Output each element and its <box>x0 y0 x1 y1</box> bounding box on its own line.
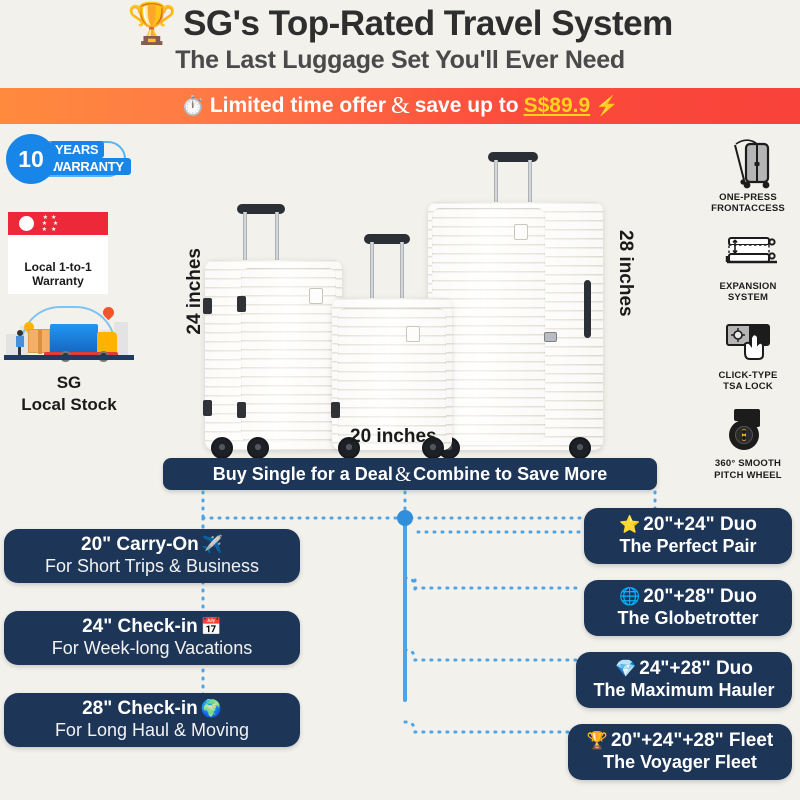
local-stock-line1: SG <box>4 372 134 394</box>
feature-label: ONE-PRESS FRONTACCESS <box>711 192 785 215</box>
combo-title-text: 20"+24"+28" Fleet <box>611 730 773 752</box>
feature-expansion-system: EXPANSION SYSTEM <box>696 223 800 304</box>
corner-guard <box>237 296 246 312</box>
combo-title: 🌐 20"+28" Duo <box>619 586 757 608</box>
promo-price: S$89.9 <box>524 94 591 118</box>
combo-title: 🏆 20"+24"+28" Fleet <box>587 730 773 752</box>
stopwatch-icon: ⏱️ <box>181 94 205 118</box>
feature-label: EXPANSION SYSTEM <box>719 281 776 304</box>
option-card-20-carry-on[interactable]: 20" Carry-On ✈️ For Short Trips & Busine… <box>4 529 300 583</box>
feature-line2: SYSTEM <box>719 292 776 303</box>
option-title-text: 28" Check-in <box>82 698 198 720</box>
connector-hub-dot <box>397 510 413 526</box>
combo-title: ⭐ 20"+24" Duo <box>619 514 757 536</box>
feature-line2: TSA LOCK <box>719 381 778 392</box>
local-warranty-line2: Warranty <box>10 275 106 289</box>
combo-title-text: 24"+28" Duo <box>639 658 753 680</box>
telescopic-handle <box>237 204 285 260</box>
option-subtitle: For Week-long Vacations <box>52 638 252 660</box>
suitcase-shell <box>205 260 342 450</box>
combo-card-maximum-hauler[interactable]: 💎 24"+28" Duo The Maximum Hauler <box>576 652 792 708</box>
promo-text-after: save up to <box>415 94 519 118</box>
brand-logo-tag <box>309 288 323 304</box>
brand-logo-tag <box>514 224 528 240</box>
local-warranty-text: Local 1-to-1 Warranty <box>8 257 108 294</box>
star-icon: ⭐ <box>619 515 640 535</box>
page-title: SG's Top-Rated Travel System <box>183 4 673 44</box>
option-title: 24" Check-in 📅 <box>82 616 222 638</box>
suitcase-shell <box>428 202 603 450</box>
dimension-label-24: 24 inches <box>184 248 206 335</box>
option-title-text: 24" Check-in <box>82 616 198 638</box>
delivery-truck-icon <box>4 300 134 366</box>
page-subtitle: The Last Luggage Set You'll Ever Need <box>175 46 625 75</box>
local-stock-text: SG Local Stock <box>4 372 134 416</box>
dimension-label-20: 20 inches <box>350 426 437 448</box>
warranty-label: WARRANTY <box>44 158 131 175</box>
front-access-suitcase-icon <box>716 134 780 192</box>
tsa-lock <box>544 332 557 342</box>
combo-title-text: 20"+24" Duo <box>643 514 757 536</box>
feature-tsa-lock: CLICK-TYPE TSA LOCK <box>696 312 800 393</box>
option-subtitle: For Long Haul & Moving <box>55 720 249 742</box>
title-row: 🏆 SG's Top-Rated Travel System <box>127 4 672 44</box>
promo-text-before: Limited time offer <box>210 94 386 118</box>
trophy-icon: 🏆 <box>127 4 177 44</box>
gem-icon: 💎 <box>615 659 636 679</box>
dimension-label-28: 28 inches <box>614 230 636 317</box>
corner-guard <box>237 402 246 418</box>
lightning-bolt-icon: ⚡ <box>595 94 619 118</box>
page-header: 🏆 SG's Top-Rated Travel System The Last … <box>0 0 800 88</box>
warranty-badge: 10 YEARS WARRANTY <box>4 132 129 186</box>
product-photo: 24 inches 28 inches 20 inches <box>150 130 650 460</box>
telescopic-handle <box>364 234 410 298</box>
globe-meridians-icon: 🌐 <box>619 587 640 607</box>
option-subtitle: For Short Trips & Business <box>45 556 259 578</box>
calendar-icon: 📅 <box>201 617 222 637</box>
telescopic-handle <box>488 152 538 202</box>
feature-line1: EXPANSION <box>719 281 776 292</box>
option-title-text: 20" Carry-On <box>81 534 199 556</box>
infographic-page: 🏆 SG's Top-Rated Travel System The Last … <box>0 0 800 800</box>
globe-earth-icon: 🌍 <box>201 699 222 719</box>
promo-banner[interactable]: ⏱️ Limited time offer & save up to S$89.… <box>0 88 800 124</box>
tsa-lock-icon <box>717 312 779 370</box>
front-access-panel <box>338 308 446 442</box>
trophy-icon: 🏆 <box>587 731 608 751</box>
courier-icon <box>16 330 24 354</box>
corner-guard <box>331 402 340 418</box>
local-stock-line2: Local Stock <box>4 394 134 416</box>
warranty-years-number: 10 <box>6 134 56 184</box>
combo-subtitle: The Voyager Fleet <box>603 752 757 774</box>
combo-card-voyager-fleet[interactable]: 🏆 20"+24"+28" Fleet The Voyager Fleet <box>568 724 792 780</box>
combo-title: 💎 24"+28" Duo <box>615 658 753 680</box>
combo-card-globetrotter[interactable]: 🌐 20"+28" Duo The Globetrotter <box>584 580 792 636</box>
singapore-flag-icon: ★★★ ★★★ <box>8 212 108 257</box>
cargo-boxes-icon <box>28 329 50 353</box>
feature-line2: FRONTACCESS <box>711 203 785 214</box>
local-warranty-badge: ★★★ ★★★ Local 1-to-1 Warranty <box>8 212 108 294</box>
combo-title-text: 20"+28" Duo <box>643 586 757 608</box>
suitcase-28 <box>428 202 603 450</box>
option-title: 20" Carry-On ✈️ <box>81 534 223 556</box>
option-card-24-check-in[interactable]: 24" Check-in 📅 For Week-long Vacations <box>4 611 300 665</box>
side-carry-handle <box>584 280 591 338</box>
feature-icon-column: ONE-PRESS FRONTACCESS EXPANS <box>696 134 800 489</box>
local-warranty-line1: Local 1-to-1 <box>10 261 106 275</box>
warranty-years-label: YEARS <box>50 141 104 158</box>
promo-ampersand: & <box>391 93 410 120</box>
local-stock-badge: SG Local Stock <box>4 300 134 416</box>
combo-subtitle: The Perfect Pair <box>619 536 756 558</box>
combo-card-perfect-pair[interactable]: ⭐ 20"+24" Duo The Perfect Pair <box>584 508 792 564</box>
feature-one-press-front-access: ONE-PRESS FRONTACCESS <box>696 134 800 215</box>
left-badge-column: 10 YEARS WARRANTY ★★★ ★★★ Local 1-to-1 W… <box>0 132 140 186</box>
option-title: 28" Check-in 🌍 <box>82 698 222 720</box>
corner-guard <box>203 400 212 416</box>
flag-stars: ★★★ ★★★ <box>38 215 64 233</box>
option-card-28-check-in[interactable]: 28" Check-in 🌍 For Long Haul & Moving <box>4 693 300 747</box>
feature-line1: CLICK-TYPE <box>719 370 778 381</box>
combo-subtitle: The Globetrotter <box>617 608 758 630</box>
airplane-icon: ✈️ <box>202 535 223 555</box>
brand-logo-tag <box>406 326 420 342</box>
suitcase-24 <box>205 260 342 450</box>
feature-line1: ONE-PRESS <box>711 192 785 203</box>
feature-label: CLICK-TYPE TSA LOCK <box>719 370 778 393</box>
combo-subtitle: The Maximum Hauler <box>593 680 774 702</box>
expansion-suitcase-icon <box>715 223 781 281</box>
